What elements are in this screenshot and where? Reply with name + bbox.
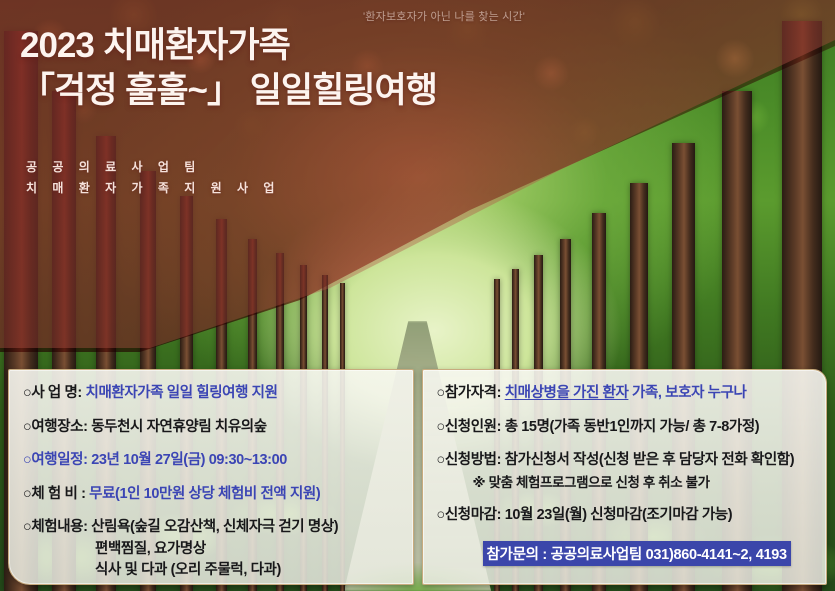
info-value-extra-1: 편백찜질, 요가명상 (23, 540, 403, 560)
info-row-activities: ○체험내용: 산림욕(숲길 오감산책, 신체자극 걷기 명상) 편백찜질, 요가… (23, 518, 403, 581)
bullet-icon: ○ (437, 507, 445, 523)
info-label: 신청인원: (445, 419, 501, 435)
info-panels: ○사 업 명: 치매환자가족 일일 힐링여행 지원 ○여행장소: 동두천시 자연… (8, 369, 827, 585)
info-label: 신청방법: (445, 452, 501, 468)
info-value: 무료(1인 10만원 상당 체험비 전액 지원) (89, 486, 320, 502)
info-row-fee: ○체 험 비 : 무료(1인 10만원 상당 체험비 전액 지원) (23, 485, 403, 505)
organizer-team: 공 공 의 료 사 업 팀 (26, 160, 201, 174)
info-row-project-name: ○사 업 명: 치매환자가족 일일 힐링여행 지원 (23, 384, 403, 404)
info-label: 신청마감: (445, 507, 501, 523)
kicker-tagline: '환자보호자가 아닌 나를 찾는 시간' (363, 8, 525, 24)
info-value: 동두천시 자연휴양림 치유의숲 (91, 419, 266, 435)
info-row-capacity: ○신청인원: 총 15명(가족 동반1인까지 가능/ 총 7-8가정) (437, 418, 817, 438)
title-line-1: 2023 치매환자가족 (20, 26, 290, 65)
info-label: 사 업 명: (31, 385, 82, 401)
contact-badge: 참가문의 : 공공의료사업팀 031)860-4141~2, 4193 (483, 541, 791, 566)
info-value: 치매환자가족 일일 힐링여행 지원 (86, 385, 278, 401)
info-row-location: ○여행장소: 동두천시 자연휴양림 치유의숲 (23, 418, 403, 438)
bullet-icon: ○ (437, 452, 445, 468)
info-value-extra-2: 식사 및 다과 (오리 주물럭, 다과) (23, 561, 403, 581)
info-value-tail: 가족, 보호자 누구나 (628, 385, 746, 401)
poster-canvas: '환자보호자가 아닌 나를 찾는 시간' 2023 치매환자가족 「걱정 훌훌~… (0, 0, 835, 591)
info-row-how-to-apply: ○신청방법: 참가신청서 작성(신청 받은 후 담당자 전화 확인함) ※ 맞춤… (437, 451, 817, 492)
page-title: 2023 치매환자가족 「걱정 훌훌~」 일일힐링여행 (20, 24, 540, 114)
bullet-icon: ○ (437, 419, 445, 435)
bullet-icon: ○ (437, 385, 445, 401)
info-row-eligibility: ○참가자격: 치매상병을 가진 환자 가족, 보호자 누구나 (437, 384, 817, 404)
info-value: 총 15명(가족 동반1인까지 가능/ 총 7-8가정) (505, 419, 760, 435)
info-value: 참가신청서 작성(신청 받은 후 담당자 전화 확인함) (505, 452, 794, 468)
info-value: 산림욕(숲길 오감산책, 신체자극 걷기 명상) (91, 519, 338, 535)
info-row-schedule: ○여행일정: 23년 10월 27일(금) 09:30~13:00 (23, 451, 403, 471)
info-label: 여행장소: (31, 419, 87, 435)
info-label: 여행일정: (31, 452, 87, 468)
left-info-panel: ○사 업 명: 치매환자가족 일일 힐링여행 지원 ○여행장소: 동두천시 자연… (8, 369, 414, 585)
info-value-emphasis: 치매상병을 가진 환자 (505, 385, 629, 401)
organizer-block: 공 공 의 료 사 업 팀 치 매 환 자 가 족 지 원 사 업 (26, 157, 280, 199)
info-label: 체험내용: (31, 519, 87, 535)
title-line-2: 「걱정 훌훌~」 일일힐링여행 (20, 69, 540, 114)
info-note-cancellation: ※ 맞춤 체험프로그램으로 신청 후 취소 불가 (437, 474, 817, 492)
info-label: 참가자격: (445, 385, 501, 401)
organizer-program: 치 매 환 자 가 족 지 원 사 업 (26, 181, 280, 195)
info-row-deadline: ○신청마감: 10월 23일(월) 신청마감(조기마감 가능) (437, 506, 817, 526)
info-value: 10월 23일(월) 신청마감(조기마감 가능) (505, 507, 732, 523)
right-info-panel: ○참가자격: 치매상병을 가진 환자 가족, 보호자 누구나 ○신청인원: 총 … (422, 369, 828, 585)
info-label: 체 험 비 : (31, 486, 85, 502)
info-value: 23년 10월 27일(금) 09:30~13:00 (91, 452, 287, 468)
